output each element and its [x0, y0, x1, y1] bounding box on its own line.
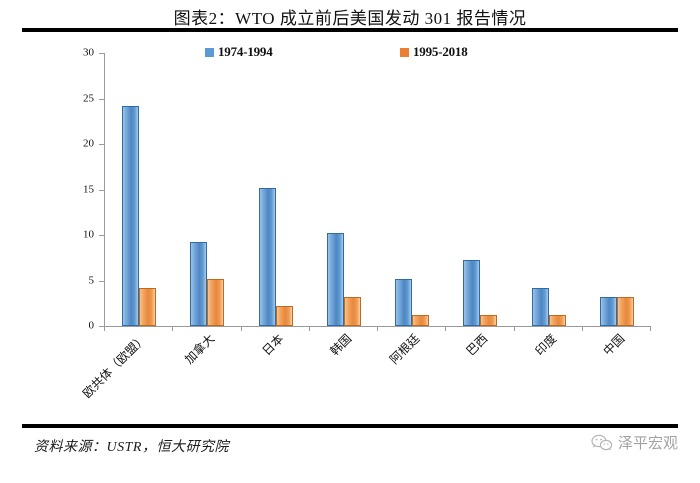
y-axis-group: 051015202530: [104, 53, 650, 326]
y-axis-tick-label: 0: [66, 321, 94, 332]
bar-series1: [463, 260, 480, 326]
bar-series2: [617, 297, 634, 326]
bar-series2: [207, 279, 224, 327]
title-divider-top: [22, 28, 678, 32]
wechat-icon: [591, 434, 613, 452]
bar-series1: [122, 106, 139, 326]
source-note: 资料来源：USTR，恒大研究院: [34, 436, 229, 456]
x-axis-category-label: 加拿大: [65, 330, 218, 483]
bar-series2: [480, 315, 497, 326]
bar-series2: [412, 315, 429, 326]
bar-series1: [259, 188, 276, 327]
bar-series1: [600, 297, 617, 326]
x-axis-category-label: 印度: [406, 330, 559, 483]
x-axis-category-labels: 欧共体（欧盟）加拿大日本韩国阿根廷巴西印度中国: [104, 330, 664, 420]
y-axis-tick-label: 15: [66, 184, 94, 195]
y-axis-tick: [99, 281, 104, 282]
chart-page: 图表2：WTO 成立前后美国发动 301 报告情况 1974-1994 1995…: [0, 0, 700, 470]
y-axis-tick-label: 20: [66, 139, 94, 150]
y-axis-tick-label: 25: [66, 93, 94, 104]
bar-series1: [190, 242, 207, 326]
bar-series1: [395, 279, 412, 327]
x-axis-category-label: 日本: [133, 330, 286, 483]
watermark: 泽平宏观: [591, 432, 678, 453]
x-axis-category-label: 中国: [474, 330, 627, 483]
page-title: 图表2：WTO 成立前后美国发动 301 报告情况: [174, 9, 527, 28]
bar-series2: [139, 288, 156, 326]
chart-title-row: 图表2：WTO 成立前后美国发动 301 报告情况: [0, 4, 700, 29]
footer-divider: [22, 424, 678, 428]
y-axis-tick: [99, 235, 104, 236]
bar-series1: [327, 233, 344, 326]
bar-series2: [344, 297, 361, 326]
y-axis-tick: [99, 99, 104, 100]
y-axis-tick: [99, 144, 104, 145]
bar-series1: [532, 288, 549, 326]
y-axis-tick-label: 30: [66, 48, 94, 59]
bar-series2: [276, 306, 293, 326]
bar-series2: [549, 315, 566, 326]
y-axis-tick: [99, 53, 104, 54]
y-axis-tick-label: 5: [66, 275, 94, 286]
watermark-label: 泽平宏观: [618, 432, 678, 453]
x-axis-category-label: 阿根廷: [270, 330, 423, 483]
plot-area: 051015202530: [104, 53, 650, 326]
y-axis-tick: [99, 190, 104, 191]
y-axis-tick-label: 10: [66, 230, 94, 241]
x-axis-category-label: 巴西: [338, 330, 491, 483]
x-axis-category-label: 韩国: [201, 330, 354, 483]
